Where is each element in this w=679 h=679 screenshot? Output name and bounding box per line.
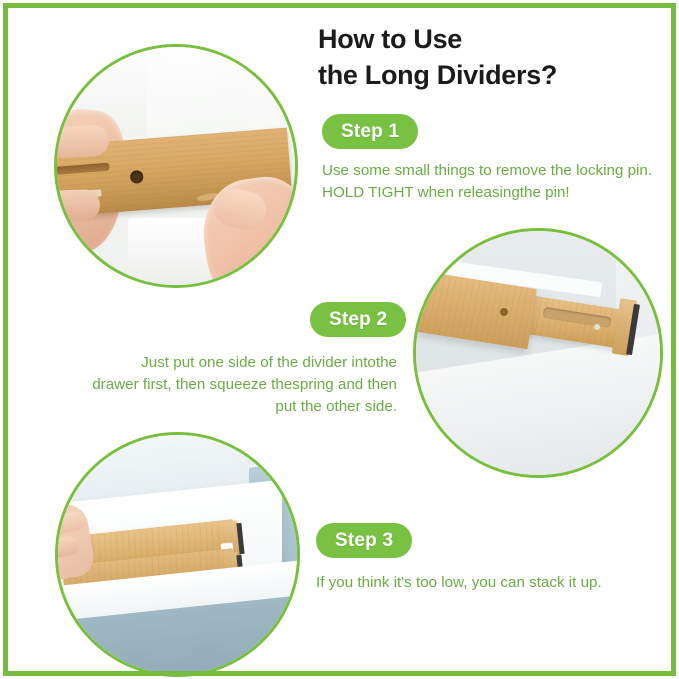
step-3-text: If you think it's too low, you can stack…	[316, 572, 636, 594]
photo-step-3	[55, 432, 300, 677]
page-title-line2: the Long Dividers?	[318, 58, 663, 94]
scene1-left-finger-lower	[54, 189, 100, 222]
infographic-page: How to Use the Long Dividers? Step 1 Use…	[0, 0, 679, 679]
scene-step-2	[416, 231, 660, 475]
photo-step-2	[413, 228, 663, 478]
scene1-divider-slot	[54, 163, 110, 176]
scene-step-3	[58, 435, 297, 674]
page-title-line1: How to Use	[318, 24, 462, 54]
step-2-text: Just put one side of the divider intothe…	[92, 352, 397, 419]
page-title: How to Use the Long Dividers?	[318, 22, 663, 93]
scene2-adjust-hole-icon	[594, 324, 600, 330]
locking-pin-hole-icon	[130, 171, 144, 185]
photo-step-1	[54, 44, 298, 288]
infographic-canvas: How to Use the Long Dividers? Step 1 Use…	[0, 0, 679, 679]
scene2-locking-pin-hole-icon	[500, 308, 508, 316]
step-1-text: Use some small things to remove the lock…	[322, 160, 662, 204]
step-2-badge: Step 2	[310, 302, 406, 337]
scene1-left-finger-upper	[54, 124, 110, 158]
scene-step-1	[57, 47, 295, 285]
step-1-badge: Step 1	[322, 114, 418, 149]
step-3-badge: Step 3	[316, 523, 412, 558]
